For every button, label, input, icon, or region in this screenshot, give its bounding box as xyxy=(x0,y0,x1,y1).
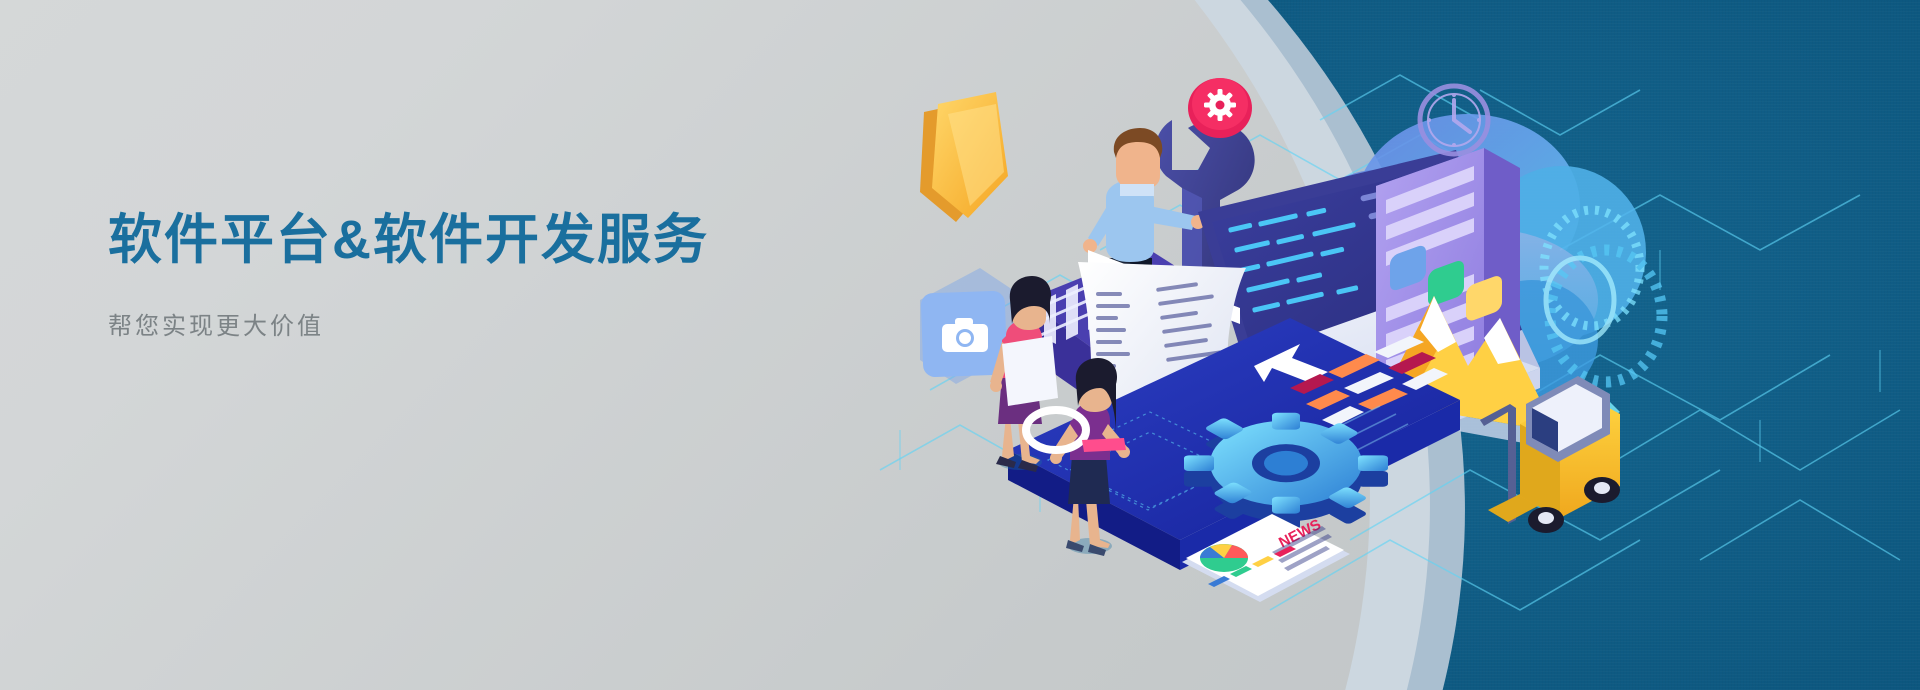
gear-badge-icon xyxy=(1188,78,1252,138)
hero-illustration: NEWS xyxy=(820,0,1920,690)
page-title: 软件平台&软件开发服务 xyxy=(108,208,709,274)
hero-banner: 软件平台&软件开发服务 帮您实现更大价值 xyxy=(0,0,1920,690)
hero-text-block: 软件平台&软件开发服务 帮您实现更大价值 xyxy=(108,208,709,341)
security-shield-icon xyxy=(920,92,1008,222)
page-subtitle: 帮您实现更大价值 xyxy=(108,306,709,341)
clock-icon xyxy=(1420,86,1488,154)
pie-chart-icon xyxy=(1200,544,1248,572)
